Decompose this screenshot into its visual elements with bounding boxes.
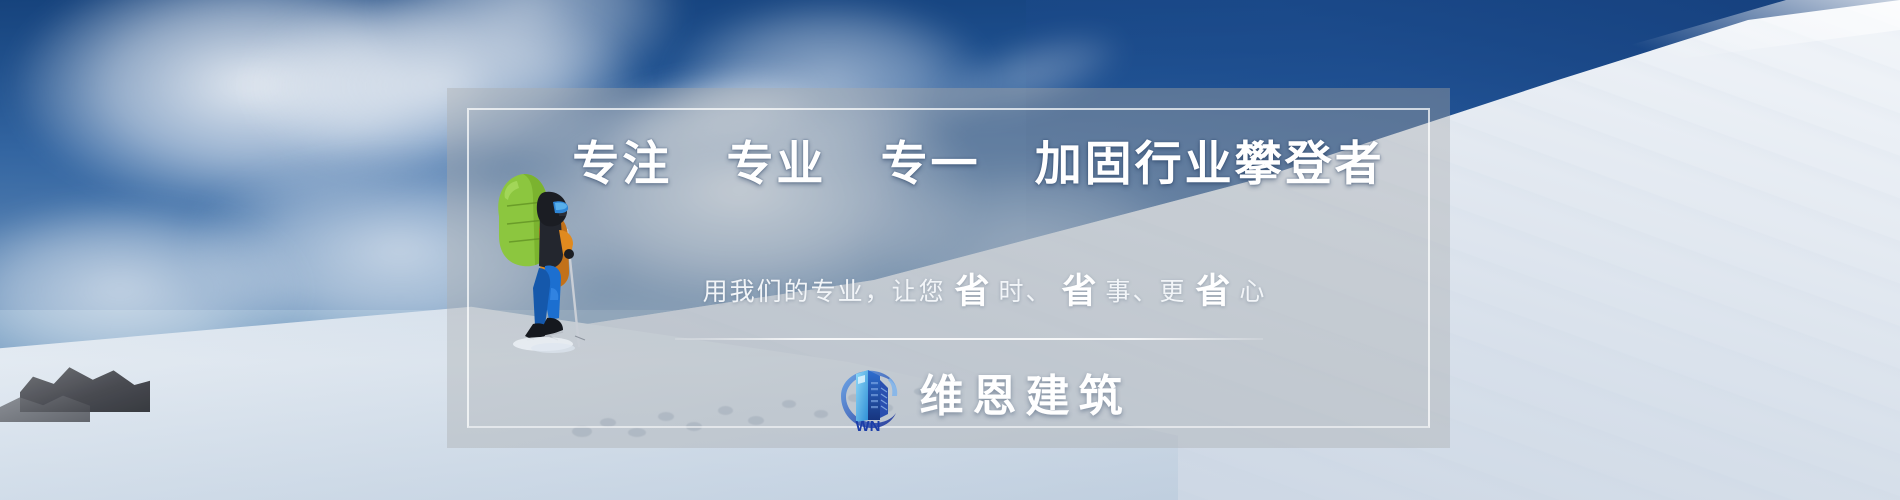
banner-stage: 专注 专业 专一 加固行业攀登者 用我们的专业，让您 省 时、 省 事、更 省 … bbox=[0, 0, 1900, 500]
mountain-climber-figure-icon bbox=[493, 168, 601, 380]
overlay-panel-inner-frame bbox=[467, 108, 1430, 428]
